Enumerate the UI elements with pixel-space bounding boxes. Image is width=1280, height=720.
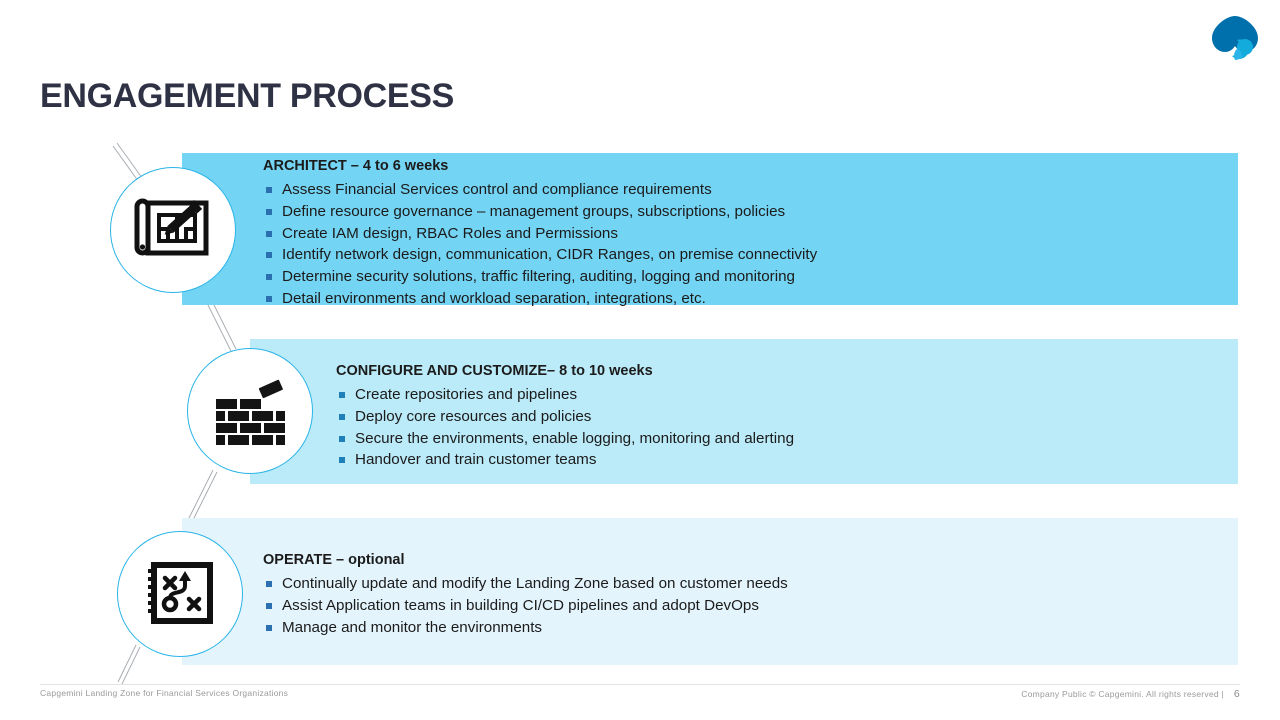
bullet-list-architect: Assess Financial Services control and co… (263, 179, 1223, 310)
list-item-label: Create IAM design, RBAC Roles and Permis… (282, 225, 618, 242)
list-item: Secure the environments, enable logging,… (336, 428, 1226, 450)
content-block-operate: OPERATE – optional Continually update an… (263, 551, 1223, 638)
list-item: Assess Financial Services control and co… (263, 179, 1223, 201)
bullet-list-operate: Continually update and modify the Landin… (263, 573, 1223, 638)
block-heading-architect: ARCHITECT – 4 to 6 weeks (263, 157, 1223, 176)
footer-copyright-text: Company Public © Capgemini. All rights r… (1021, 689, 1224, 699)
blueprint-pencil-icon (132, 195, 214, 265)
list-item: Continually update and modify the Landin… (263, 573, 1223, 595)
list-item-label: Determine security solutions, traffic fi… (282, 268, 795, 285)
list-item: Define resource governance – management … (263, 201, 1223, 223)
content-block-configure-customize: CONFIGURE AND CUSTOMIZE– 8 to 10 weeks C… (336, 362, 1226, 471)
bullet-square-icon (266, 274, 272, 280)
step-circle-operate (117, 531, 243, 657)
bullet-square-icon (339, 414, 345, 420)
bullet-square-icon (339, 392, 345, 398)
list-item: Determine security solutions, traffic fi… (263, 266, 1223, 288)
list-item: Create IAM design, RBAC Roles and Permis… (263, 223, 1223, 245)
bullet-square-icon (266, 187, 272, 193)
step-circle-architect (110, 167, 236, 293)
list-item-label: Continually update and modify the Landin… (282, 575, 788, 592)
bullet-square-icon (266, 581, 272, 587)
list-item: Identify network design, communication, … (263, 244, 1223, 266)
block-heading-configure-customize: CONFIGURE AND CUSTOMIZE– 8 to 10 weeks (336, 362, 1226, 381)
list-item: Detail environments and workload separat… (263, 288, 1223, 310)
bullet-square-icon (266, 231, 272, 237)
page-number: 6 (1234, 688, 1240, 700)
list-item-label: Detail environments and workload separat… (282, 290, 706, 307)
step-circle-configure-customize (187, 348, 313, 474)
list-item-label: Deploy core resources and policies (355, 408, 591, 425)
list-item-label: Secure the environments, enable logging,… (355, 430, 794, 447)
footer-left-text: Capgemini Landing Zone for Financial Ser… (40, 688, 288, 698)
content-block-architect: ARCHITECT – 4 to 6 weeks Assess Financia… (263, 157, 1223, 310)
list-item-label: Manage and monitor the environments (282, 619, 542, 636)
strategy-playbook-icon (145, 559, 215, 629)
bullet-square-icon (266, 603, 272, 609)
list-item: Create repositories and pipelines (336, 384, 1226, 406)
bullet-square-icon (266, 209, 272, 215)
bullet-square-icon (339, 457, 345, 463)
slide-canvas: ENGAGEMENT PROCESS ARCHITECT – 4 to 6 we… (0, 0, 1280, 720)
list-item: Assist Application teams in building CI/… (263, 595, 1223, 617)
block-heading-operate: OPERATE – optional (263, 551, 1223, 570)
footer-divider (40, 684, 1240, 685)
list-item-label: Assess Financial Services control and co… (282, 181, 712, 198)
page-title: ENGAGEMENT PROCESS (40, 74, 454, 118)
list-item: Manage and monitor the environments (263, 617, 1223, 639)
footer-right: Company Public © Capgemini. All rights r… (1021, 688, 1240, 700)
list-item-label: Define resource governance – management … (282, 203, 785, 220)
bullet-square-icon (266, 296, 272, 302)
bullet-list-configure-customize: Create repositories and pipelines Deploy… (336, 384, 1226, 471)
brick-wall-icon (210, 377, 290, 445)
capgemini-spade-logo (1206, 14, 1264, 62)
list-item-label: Assist Application teams in building CI/… (282, 597, 759, 614)
bullet-square-icon (266, 252, 272, 258)
list-item: Deploy core resources and policies (336, 406, 1226, 428)
bullet-square-icon (266, 625, 272, 631)
list-item: Handover and train customer teams (336, 449, 1226, 471)
list-item-label: Handover and train customer teams (355, 451, 596, 468)
list-item-label: Identify network design, communication, … (282, 246, 817, 263)
list-item-label: Create repositories and pipelines (355, 386, 577, 403)
bullet-square-icon (339, 436, 345, 442)
